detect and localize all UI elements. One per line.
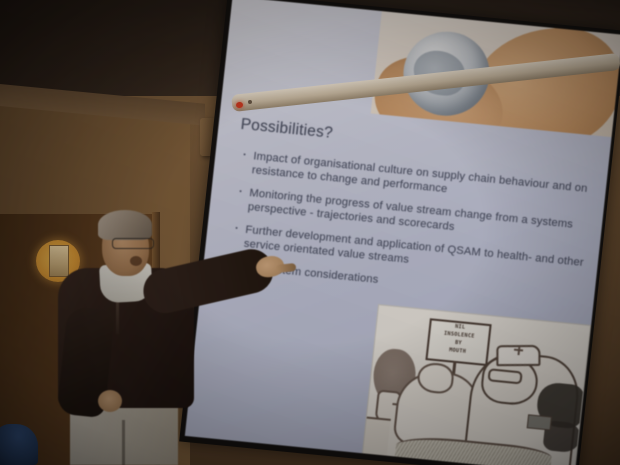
presenter	[40, 196, 270, 465]
presenter-hair	[98, 210, 152, 240]
slide-cartoon-image: NIL INSOLENCE BY MOUTH	[362, 304, 592, 465]
cartoon-nurse-badge	[527, 414, 552, 430]
presenter-left-hand	[98, 390, 122, 412]
glasses-icon	[112, 238, 154, 249]
slide-bullet-list: Impact of organisational culture on supp…	[228, 148, 601, 316]
slide-title: Possibilities?	[240, 116, 334, 143]
photo-scene: Possibilities? Impact of organisational …	[0, 0, 620, 465]
presenter-trouser-seam	[122, 420, 125, 465]
presenter-mouth	[130, 256, 142, 266]
cartoon-sign: NIL INSOLENCE BY MOUTH	[425, 318, 491, 366]
presenter-right-arm	[139, 245, 278, 318]
